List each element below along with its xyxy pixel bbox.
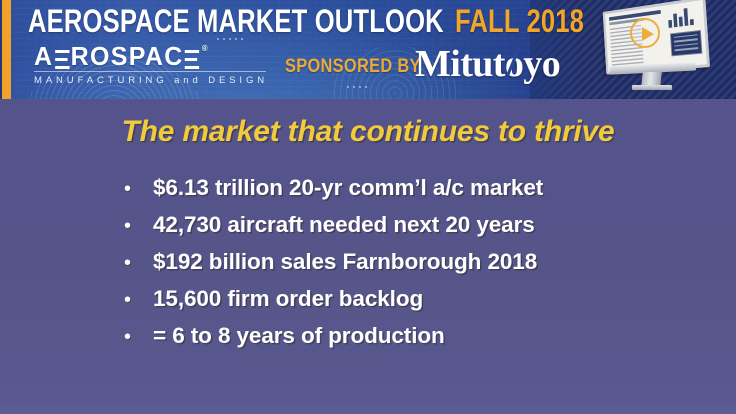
mitutoyo-sponsor-logo: Mitutoyo: [415, 44, 560, 84]
banner-headline-accent: FALL 2018: [455, 3, 584, 39]
mitutoyo-logo-slashed-letters: oy: [505, 44, 542, 84]
mitutoyo-logo-post: o: [542, 43, 560, 85]
list-item: • = 6 to 8 years of production: [124, 322, 684, 359]
registered-trademark-icon: ®: [202, 45, 208, 53]
presentation-slide: AEROSPACE MARKET OUTLOOK FALL 2018 A ROS…: [0, 0, 736, 414]
bullet-text: $192 billion sales Farnborough 2018: [153, 248, 537, 276]
list-item: • $192 billion sales Farnborough 2018: [124, 248, 684, 285]
document-image-block: [670, 30, 702, 56]
slide-bullet-list: • $6.13 trillion 20-yr comm’l a/c market…: [124, 174, 684, 359]
webinar-video-thumbnail[interactable]: [588, 0, 710, 99]
mitutoyo-logo-pre: Mitut: [415, 43, 505, 85]
sponsored-by-label: SPONSORED BY: [285, 56, 421, 78]
amd-logo-tagline: MANUFACTURING and DESIGN: [34, 75, 266, 86]
list-item: • 15,600 firm order backlog: [124, 285, 684, 322]
monitor-stand-foot: [632, 85, 672, 90]
bullet-point-icon: •: [124, 323, 153, 351]
banner-headline-main: AEROSPACE MARKET OUTLOOK: [28, 3, 444, 39]
amd-logo-letter-a: A: [34, 43, 53, 69]
slide-title: The market that continues to thrive: [0, 113, 736, 151]
bullet-text: = 6 to 8 years of production: [153, 322, 445, 350]
list-item: • 42,730 aircraft needed next 20 years: [124, 211, 684, 248]
bullet-point-icon: •: [124, 249, 153, 277]
amd-logo-divider: [34, 71, 266, 72]
amd-logo-letters-rospac: ROSPAC: [71, 43, 184, 69]
document-chart-thumbnail: [667, 4, 699, 28]
banner-orange-accent-bar: [2, 0, 11, 99]
bullet-text: 42,730 aircraft needed next 20 years: [153, 211, 535, 239]
banner-dot-pattern-2: [345, 84, 371, 92]
bullet-point-icon: •: [124, 212, 153, 240]
play-icon[interactable]: [630, 18, 660, 48]
amd-logo-wordmark: A ROSPAC ®: [34, 43, 257, 69]
bullet-text: $6.13 trillion 20-yr comm’l a/c market: [153, 174, 543, 202]
banner-headline: AEROSPACE MARKET OUTLOOK FALL 2018: [28, 2, 584, 40]
amd-logo-bar-e-1: [55, 50, 69, 69]
slide-bottom-band: [0, 405, 736, 414]
bullet-point-icon: •: [124, 175, 153, 203]
bullet-text: 15,600 firm order backlog: [153, 285, 423, 313]
list-item: • $6.13 trillion 20-yr comm’l a/c market: [124, 174, 684, 211]
webinar-banner: AEROSPACE MARKET OUTLOOK FALL 2018 A ROS…: [0, 0, 736, 99]
aerospace-manufacturing-design-logo: A ROSPAC ® MANUFACTURING and DESIGN: [34, 43, 266, 86]
amd-logo-bar-e-2: [185, 50, 199, 69]
bullet-point-icon: •: [124, 286, 153, 314]
